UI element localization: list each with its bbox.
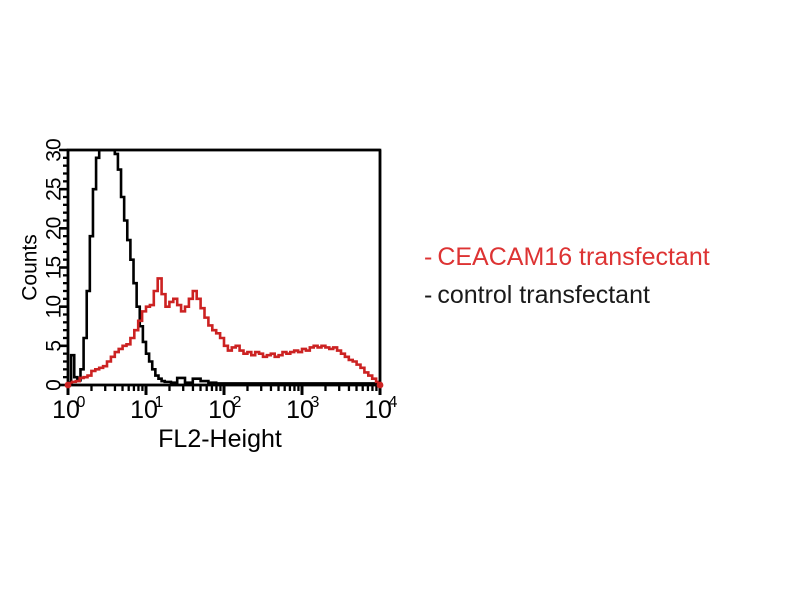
- y-axis-tick-label: 30: [43, 138, 66, 161]
- legend-entry-control: -control transfectant: [424, 276, 800, 314]
- y-axis-title: Counts: [19, 234, 42, 301]
- legend-dash-ceacam16: -: [424, 238, 432, 276]
- chart-legend: -CEACAM16 transfectant -control transfec…: [424, 238, 800, 314]
- y-axis-tick-label: 5: [43, 340, 66, 352]
- x-axis-tick-exponent: 3: [311, 394, 320, 411]
- x-axis-tick-exponent: 2: [233, 394, 242, 411]
- y-axis-tick-label: 20: [43, 217, 66, 240]
- trace-endpoint-marker: [65, 382, 72, 389]
- legend-label-control: control transfectant: [437, 281, 650, 309]
- legend-dash-control: -: [424, 276, 432, 314]
- legend-label-ceacam16: CEACAM16 transfectant: [437, 243, 709, 271]
- legend-entry-ceacam16: -CEACAM16 transfectant: [424, 238, 800, 276]
- x-axis-tick-exponent: 0: [77, 394, 86, 411]
- y-axis-tick-label: 25: [43, 177, 66, 200]
- x-axis-tick-exponent: 4: [389, 394, 398, 411]
- flow-cytometry-figure: 051015202530Counts100101102103104FL2-Hei…: [0, 0, 800, 600]
- x-axis-title: FL2-Height: [158, 425, 282, 453]
- x-axis-tick-exponent: 1: [155, 394, 164, 411]
- y-axis-tick-label: 10: [43, 295, 66, 318]
- y-axis-tick-label: 15: [43, 256, 66, 279]
- trace-endpoint-marker: [377, 382, 384, 389]
- y-axis-tick-label: 0: [43, 379, 66, 391]
